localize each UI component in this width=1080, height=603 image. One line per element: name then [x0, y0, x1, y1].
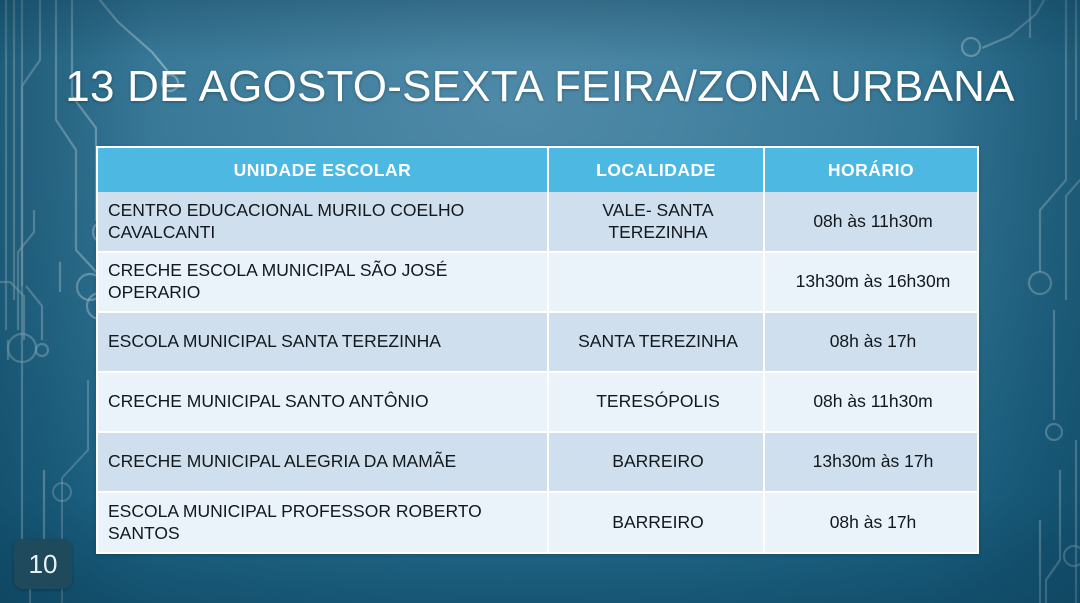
cell-horario: 08h às 17h: [764, 492, 977, 552]
table-header-row: UNIDADE ESCOLAR LOCALIDADE HORÁRIO: [98, 148, 977, 192]
table-header: UNIDADE ESCOLAR LOCALIDADE HORÁRIO: [98, 148, 977, 192]
cell-localidade: TERESÓPOLIS: [548, 372, 764, 432]
slide-canvas: 13 DE AGOSTO-SEXTA FEIRA/ZONA URBANA UNI…: [0, 0, 1080, 603]
cell-localidade: BARREIRO: [548, 432, 764, 492]
table-row: CRECHE MUNICIPAL ALEGRIA DA MAMÃE BARREI…: [98, 432, 977, 492]
cell-unidade: CRECHE ESCOLA MUNICIPAL SÃO JOSÉ OPERARI…: [98, 252, 548, 312]
cell-unidade: CENTRO EDUCACIONAL MURILO COELHO CAVALCA…: [98, 192, 548, 252]
cell-horario: 13h30m às 17h: [764, 432, 977, 492]
cell-localidade: [548, 252, 764, 312]
cell-unidade: CRECHE MUNICIPAL ALEGRIA DA MAMÃE: [98, 432, 548, 492]
cell-horario: 13h30m às 16h30m: [764, 252, 977, 312]
cell-unidade: CRECHE MUNICIPAL SANTO ANTÔNIO: [98, 372, 548, 432]
cell-horario: 08h às 11h30m: [764, 372, 977, 432]
table-row: CRECHE ESCOLA MUNICIPAL SÃO JOSÉ OPERARI…: [98, 252, 977, 312]
table-row: CENTRO EDUCACIONAL MURILO COELHO CAVALCA…: [98, 192, 977, 252]
table-body: CENTRO EDUCACIONAL MURILO COELHO CAVALCA…: [98, 192, 977, 552]
cell-unidade: ESCOLA MUNICIPAL SANTA TEREZINHA: [98, 312, 548, 372]
column-header-localidade: LOCALIDADE: [548, 148, 764, 192]
table-row: CRECHE MUNICIPAL SANTO ANTÔNIO TERESÓPOL…: [98, 372, 977, 432]
cell-localidade: BARREIRO: [548, 492, 764, 552]
schedule-table: UNIDADE ESCOLAR LOCALIDADE HORÁRIO CENTR…: [98, 148, 977, 552]
cell-localidade: VALE- SANTA TEREZINHA: [548, 192, 764, 252]
schedule-table-container: UNIDADE ESCOLAR LOCALIDADE HORÁRIO CENTR…: [96, 146, 979, 554]
table-row: ESCOLA MUNICIPAL PROFESSOR ROBERTO SANTO…: [98, 492, 977, 552]
cell-localidade: SANTA TEREZINHA: [548, 312, 764, 372]
page-number-badge: 10: [14, 539, 72, 589]
cell-horario: 08h às 11h30m: [764, 192, 977, 252]
table-row: ESCOLA MUNICIPAL SANTA TEREZINHA SANTA T…: [98, 312, 977, 372]
column-header-unidade-escolar: UNIDADE ESCOLAR: [98, 148, 548, 192]
page-title: 13 DE AGOSTO-SEXTA FEIRA/ZONA URBANA: [0, 62, 1080, 112]
cell-unidade: ESCOLA MUNICIPAL PROFESSOR ROBERTO SANTO…: [98, 492, 548, 552]
column-header-horario: HORÁRIO: [764, 148, 977, 192]
cell-horario: 08h às 17h: [764, 312, 977, 372]
